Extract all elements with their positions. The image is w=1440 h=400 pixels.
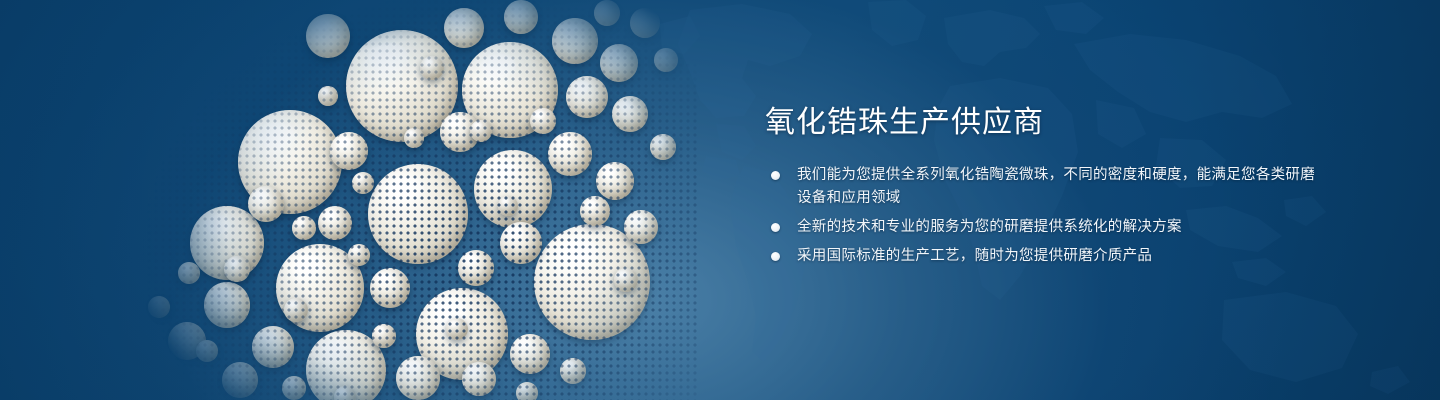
- bead: [372, 324, 396, 348]
- bead: [446, 318, 468, 340]
- bead: [650, 134, 676, 160]
- feature-list-item-text: 全新的技术和专业的服务为您的研磨提供系统化的解决方案: [797, 219, 1182, 235]
- bead: [594, 0, 620, 26]
- bead: [470, 120, 492, 142]
- bead: [196, 340, 218, 362]
- bead: [614, 268, 638, 292]
- bead: [504, 0, 538, 34]
- feature-list-item: 全新的技术和专业的服务为您的研磨提供系统化的解决方案: [765, 216, 1325, 239]
- feature-list: 我们能为您提供全系列氧化锆陶瓷微珠，不同的密度和硬度，能满足您各类研磨设备和应用…: [765, 164, 1325, 268]
- bead: [306, 14, 350, 58]
- bead: [600, 44, 638, 82]
- bead: [624, 210, 658, 244]
- bead: [178, 262, 200, 284]
- hero-banner: 氧化锆珠生产供应商 我们能为您提供全系列氧化锆陶瓷微珠，不同的密度和硬度，能满足…: [0, 0, 1440, 400]
- bead: [222, 362, 258, 398]
- bead: [474, 150, 552, 228]
- bead: [596, 162, 634, 200]
- bead: [352, 172, 374, 194]
- bead: [318, 206, 352, 240]
- bead: [248, 186, 284, 222]
- bead: [318, 86, 338, 106]
- feature-list-item-text: 我们能为您提供全系列氧化锆陶瓷微珠，不同的密度和硬度，能满足您各类研磨设备和应用…: [797, 167, 1315, 206]
- bullet-dot-icon: [771, 223, 780, 232]
- bead: [368, 164, 468, 264]
- bead: [224, 256, 250, 282]
- bead: [458, 250, 494, 286]
- bead: [462, 362, 496, 396]
- zirconia-beads-image: [0, 0, 740, 400]
- bead: [530, 108, 556, 134]
- bead: [548, 132, 592, 176]
- bead: [560, 358, 586, 384]
- bead: [654, 48, 678, 72]
- bead: [284, 298, 308, 322]
- bullet-dot-icon: [771, 171, 780, 180]
- bead: [612, 96, 648, 132]
- bead: [396, 356, 440, 400]
- bead: [630, 8, 660, 38]
- bead: [516, 382, 538, 400]
- banner-headline: 氧化锆珠生产供应商: [765, 104, 1325, 142]
- feature-list-item-text: 采用国际标准的生产工艺，随时为您提供研磨介质产品: [797, 248, 1152, 264]
- bead: [498, 196, 518, 216]
- feature-list-item: 采用国际标准的生产工艺，随时为您提供研磨介质产品: [765, 245, 1325, 268]
- bead: [292, 216, 316, 240]
- bead: [330, 132, 368, 170]
- bead: [204, 282, 250, 328]
- bead: [420, 56, 444, 80]
- bead: [252, 326, 294, 368]
- feature-list-item: 我们能为您提供全系列氧化锆陶瓷微珠，不同的密度和硬度，能满足您各类研磨设备和应用…: [765, 164, 1325, 210]
- bead: [444, 8, 484, 48]
- bead: [566, 76, 608, 118]
- bead: [580, 196, 610, 226]
- bead: [370, 268, 410, 308]
- bead: [282, 376, 306, 400]
- bead: [404, 128, 424, 148]
- bead: [552, 18, 598, 64]
- bead: [148, 296, 170, 318]
- bead: [500, 222, 542, 264]
- bullet-dot-icon: [771, 252, 780, 261]
- bead: [348, 244, 370, 266]
- bead: [510, 334, 550, 374]
- banner-copy: 氧化锆珠生产供应商 我们能为您提供全系列氧化锆陶瓷微珠，不同的密度和硬度，能满足…: [765, 104, 1325, 268]
